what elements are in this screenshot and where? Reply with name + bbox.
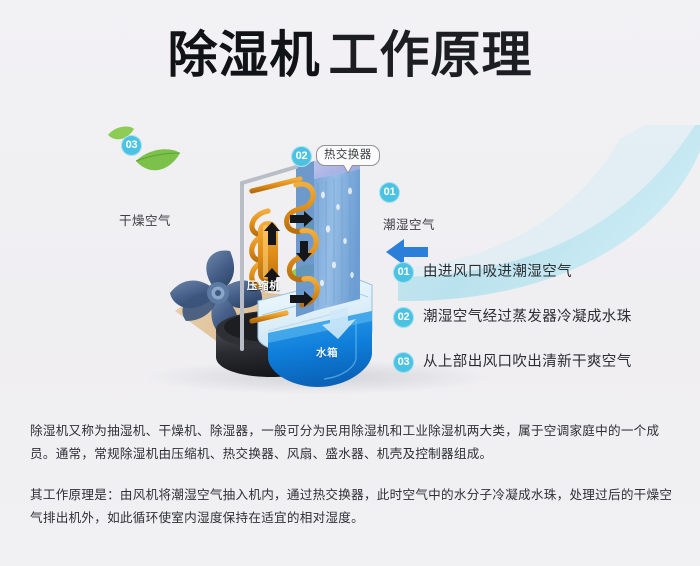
step-badge-01: 01 xyxy=(393,262,414,283)
description-paragraph-2: 其工作原理是：由风机将潮湿空气抽入机内，通过热交换器，此时空气中的水分子冷凝成水… xyxy=(30,484,675,530)
step-text-03: 从上部出风口吹出清新干爽空气 xyxy=(423,352,632,372)
badge-heat-exchanger: 02 xyxy=(291,146,312,167)
label-compressor: 压缩机 xyxy=(247,280,280,293)
list-item: 01 由进风口吸进潮湿空气 xyxy=(393,255,693,289)
dehumidifier-infographic-page: 除湿机工作原理 xyxy=(0,0,700,566)
page-title-secondary: 工作原理 xyxy=(329,27,533,83)
step-badge-03: 03 xyxy=(393,352,414,373)
label-humid-air: 潮湿空气 xyxy=(383,217,435,233)
callout-heat-exchanger: 热交换器 xyxy=(316,145,380,166)
label-dry-air: 干燥空气 xyxy=(119,213,171,229)
badge-dry-air: 03 xyxy=(121,135,142,156)
list-item: 02 潮湿空气经过蒸发器冷凝成水珠 xyxy=(393,300,693,334)
label-water-tank: 水箱 xyxy=(316,347,338,360)
badge-humid-air: 01 xyxy=(379,182,400,203)
step-text-02: 潮湿空气经过蒸发器冷凝成水珠 xyxy=(423,307,632,327)
step-text-01: 由进风口吸进潮湿空气 xyxy=(423,262,572,282)
steps-list: 01 由进风口吸进潮湿空气 02 潮湿空气经过蒸发器冷凝成水珠 03 从上部出风… xyxy=(393,255,693,390)
step-badge-02: 02 xyxy=(393,307,414,328)
page-title: 除湿机工作原理 xyxy=(0,26,700,84)
description-paragraph-1: 除湿机又称为抽湿机、干燥机、除湿器，一般可分为民用除湿机和工业除湿机两大类，属于… xyxy=(30,420,675,466)
description-block: 除湿机又称为抽湿机、干燥机、除湿器，一般可分为民用除湿机和工业除湿机两大类，属于… xyxy=(30,420,675,530)
page-title-primary: 除湿机 xyxy=(168,27,321,83)
list-item: 03 从上部出风口吹出清新干爽空气 xyxy=(393,345,693,379)
